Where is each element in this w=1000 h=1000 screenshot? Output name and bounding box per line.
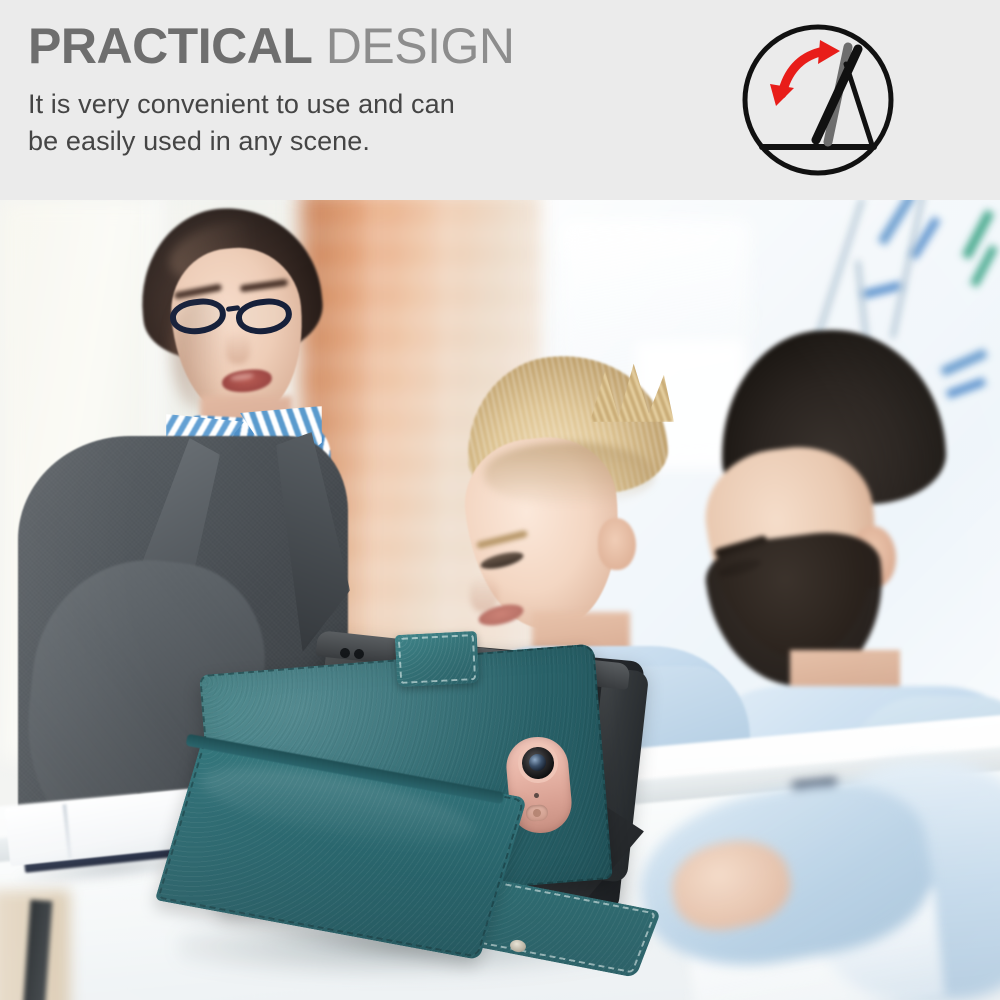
page-subtitle-line-1: It is very convenient to use and can	[28, 86, 628, 123]
page-title-strong: PRACTICAL	[28, 18, 312, 74]
green-leather-wallet-phone-case	[188, 645, 728, 985]
product-lifestyle-photo	[0, 200, 1000, 1000]
closure-tab-stitching	[398, 634, 476, 684]
header-banner: PRACTICAL DESIGN It is very convenient t…	[0, 0, 1000, 200]
nose	[226, 332, 250, 364]
ear	[598, 518, 636, 570]
page-subtitle-line-2: be easily used in any scene.	[28, 123, 628, 160]
eyeglass-lens-right	[234, 296, 294, 338]
adjustable-stand-angle-icon	[736, 18, 900, 182]
eyeglass-lens-left	[168, 296, 228, 338]
hair-fade	[484, 442, 654, 504]
header-text-block: PRACTICAL DESIGN It is very convenient t…	[28, 18, 708, 160]
page-subtitle: It is very convenient to use and can be …	[28, 86, 628, 160]
page-title: PRACTICAL DESIGN	[28, 18, 708, 74]
page-title-light: DESIGN	[312, 18, 514, 74]
